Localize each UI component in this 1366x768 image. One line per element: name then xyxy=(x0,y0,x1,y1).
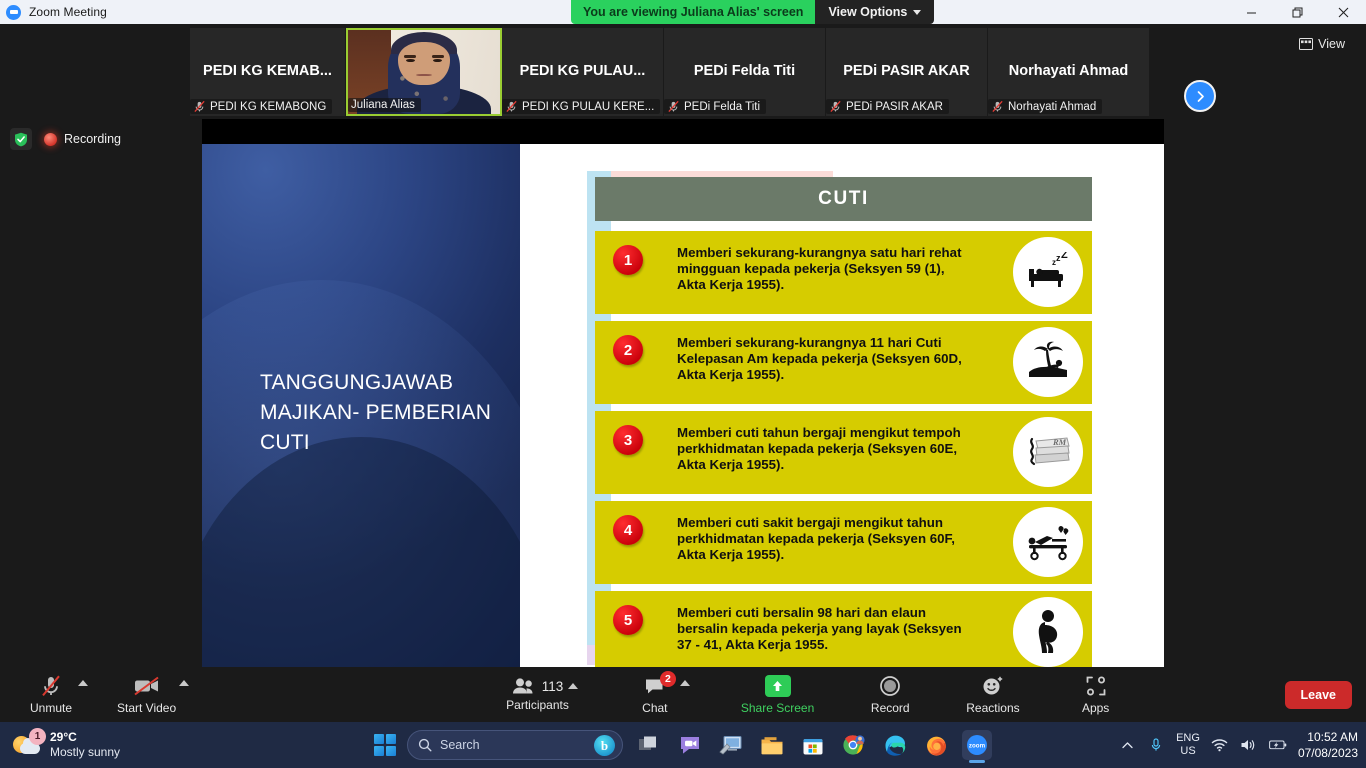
apps-bracket-icon xyxy=(1085,674,1107,698)
infographic-header: CUTI xyxy=(595,177,1092,221)
share-up-arrow-icon xyxy=(765,674,791,698)
beach-palm-icon xyxy=(1013,327,1083,397)
list-item: 4 Memberi cuti sakit bergaji mengikut ta… xyxy=(595,501,1092,584)
weather-condition: Mostly sunny xyxy=(50,745,120,760)
chat-unread-badge: 2 xyxy=(660,671,676,687)
participant-tile[interactable]: PEDI KG KEMAB... PEDI KG KEMABONG xyxy=(190,28,346,116)
participant-badge: PEDI KG KEMABONG xyxy=(190,99,332,114)
language-region: US xyxy=(1176,745,1200,758)
weather-notification-badge: 1 xyxy=(29,728,46,745)
video-options-chevron-icon[interactable] xyxy=(179,680,189,686)
language-code: ENG xyxy=(1176,732,1200,745)
participant-display-name: PEDi Felda Titi xyxy=(688,64,801,80)
chevron-right-icon xyxy=(1194,90,1207,103)
microsoft-store-icon[interactable] xyxy=(798,730,828,760)
participant-badge: Juliana Alias xyxy=(348,98,421,112)
zoom-chat-icon[interactable] xyxy=(675,730,705,760)
restore-button[interactable] xyxy=(1274,0,1320,24)
view-label: View xyxy=(1318,37,1345,51)
item-number-badge: 3 xyxy=(613,425,643,455)
search-icon xyxy=(418,738,432,752)
apps-label: Apps xyxy=(1082,701,1109,715)
list-item: 2 Memberi sekurang-kurangnya 11 hari Cut… xyxy=(595,321,1092,404)
camera-off-icon xyxy=(133,674,161,698)
mic-options-chevron-icon[interactable] xyxy=(78,680,88,686)
participant-tile[interactable]: PEDI KG PULAU... PEDI KG PULAU KERE... xyxy=(502,28,664,116)
system-tray: ENG US xyxy=(1118,729,1358,761)
weather-text: 29°C Mostly sunny xyxy=(50,730,120,760)
mute-label: Unmute xyxy=(30,701,72,715)
participant-badge: PEDi Felda Titi xyxy=(664,99,766,114)
participant-display-name: Norhayati Ahmad xyxy=(1003,64,1135,80)
participant-name: PEDI KG PULAU KERE... xyxy=(522,101,654,113)
item-text: Memberi sekurang-kurangnya 11 hari Cuti … xyxy=(677,335,967,384)
weather-temperature: 29°C xyxy=(50,730,120,745)
participant-name: PEDI KG KEMABONG xyxy=(210,101,326,113)
remote-desktop-icon[interactable] xyxy=(716,730,746,760)
chevron-up-icon[interactable] xyxy=(1118,736,1136,754)
smiley-plus-icon xyxy=(981,674,1005,698)
chat-label: Chat xyxy=(642,701,667,715)
item-number-badge: 5 xyxy=(613,605,643,635)
svg-text:RM: RM xyxy=(1052,437,1067,447)
bed-sleep-icon: z z Z xyxy=(1013,237,1083,307)
mic-muted-icon xyxy=(505,100,518,113)
participant-filmstrip: PEDI KG KEMAB... PEDI KG KEMABONG xyxy=(190,28,1170,116)
taskbar-center-group: Search b xyxy=(374,730,992,760)
participant-display-name: PEDI KG KEMAB... xyxy=(197,64,338,80)
task-view-icon[interactable] xyxy=(634,730,664,760)
zoom-content-area: PEDI KG KEMAB... PEDI KG KEMABONG xyxy=(0,24,1366,722)
recording-label: Recording xyxy=(64,132,121,146)
start-video-button[interactable]: Start Video xyxy=(112,674,181,715)
mozilla-firefox-icon[interactable] xyxy=(921,730,951,760)
mute-button[interactable]: Unmute xyxy=(22,674,80,715)
filmstrip-next-button[interactable] xyxy=(1184,80,1216,112)
zoom-meeting-window: Zoom Meeting You are viewing Juliana Ali… xyxy=(0,0,1366,768)
money-rm-icon: RM xyxy=(1013,417,1083,487)
mic-muted-icon xyxy=(667,100,680,113)
participants-count: 113 xyxy=(542,679,564,694)
share-screen-button[interactable]: Share Screen xyxy=(736,674,819,715)
item-text: Memberi sekurang-kurangnya satu hari reh… xyxy=(677,245,967,294)
pregnant-woman-icon xyxy=(1013,597,1083,667)
window-title: Zoom Meeting xyxy=(29,5,107,19)
clock-date: 07/08/2023 xyxy=(1298,745,1358,761)
meeting-control-bar: Unmute Start Video xyxy=(0,667,1366,722)
google-chrome-icon[interactable] xyxy=(839,730,869,760)
participant-tile[interactable]: PEDi Felda Titi PEDi Felda Titi xyxy=(664,28,826,116)
search-input[interactable]: Search b xyxy=(407,730,623,760)
participant-tile-active-speaker[interactable]: Juliana Alias xyxy=(346,28,502,116)
close-button[interactable] xyxy=(1320,0,1366,24)
participants-button[interactable]: 113 Participants xyxy=(501,677,574,712)
record-dot-icon xyxy=(44,133,57,146)
clock-time: 10:52 AM xyxy=(1298,729,1358,745)
share-screen-label: Share Screen xyxy=(741,701,814,715)
zoom-logo-icon xyxy=(6,5,21,20)
participants-label: Participants xyxy=(506,698,569,712)
item-text: Memberi cuti sakit bergaji mengikut tahu… xyxy=(677,515,967,564)
participants-count-group: 113 xyxy=(512,677,564,695)
shared-screen-stage[interactable]: TANGGUNGJAWAB MAJIKAN- PEMBERIAN CUTI CU… xyxy=(202,119,1164,667)
participant-display-name: PEDI KG PULAU... xyxy=(514,64,652,80)
item-number-badge: 4 xyxy=(613,515,643,545)
mic-muted-icon xyxy=(193,100,206,113)
chat-button[interactable]: 2 Chat xyxy=(626,674,684,715)
screen-share-banner: You are viewing Juliana Alias' screen Vi… xyxy=(571,0,934,24)
people-icon xyxy=(512,677,536,695)
viewing-screen-message: You are viewing Juliana Alias' screen xyxy=(571,0,815,24)
language-indicator[interactable]: ENG US xyxy=(1176,732,1200,758)
slide-infographic: CUTI 1 Memberi sekurang-kurangnya satu h… xyxy=(587,171,1097,667)
mic-muted-icon xyxy=(991,100,1004,113)
slide-title-panel: TANGGUNGJAWAB MAJIKAN- PEMBERIAN CUTI xyxy=(202,144,520,667)
layout-grid-icon xyxy=(1299,38,1313,50)
chevron-down-icon xyxy=(913,10,921,15)
search-placeholder: Search xyxy=(440,738,480,752)
minimize-button[interactable] xyxy=(1228,0,1274,24)
participant-name: PEDi Felda Titi xyxy=(684,101,760,113)
start-button[interactable] xyxy=(374,734,396,756)
zoom-app-icon[interactable]: zoom xyxy=(962,730,992,760)
window-controls xyxy=(1228,0,1366,24)
participant-tile[interactable]: PEDi PASIR AKAR PEDi PASIR AKAR xyxy=(826,28,988,116)
item-number-badge: 1 xyxy=(613,245,643,275)
record-circle-icon xyxy=(879,674,901,698)
video-label: Start Video xyxy=(117,701,176,715)
participant-name: PEDi PASIR AKAR xyxy=(846,101,943,113)
speaker-icon[interactable] xyxy=(1240,736,1258,754)
clock[interactable]: 10:52 AM 07/08/2023 xyxy=(1298,729,1358,761)
view-options-label: View Options xyxy=(828,5,907,19)
svg-text:zoom: zoom xyxy=(969,743,986,750)
svg-text:Z: Z xyxy=(1061,252,1068,261)
page-title: TANGGUNGJAWAB MAJIKAN- PEMBERIAN CUTI xyxy=(260,368,506,457)
mic-muted-icon xyxy=(40,674,62,698)
list-item: 1 Memberi sekurang-kurangnya satu hari r… xyxy=(595,231,1092,314)
windows-taskbar: 1 29°C Mostly sunny Search b xyxy=(0,722,1366,768)
participant-display-name: PEDi PASIR AKAR xyxy=(837,64,976,80)
item-text: Memberi cuti bersalin 98 hari dan elaun … xyxy=(677,605,967,654)
participant-badge: PEDi PASIR AKAR xyxy=(826,99,949,114)
file-explorer-icon[interactable] xyxy=(757,730,787,760)
item-text: Memberi cuti tahun bergaji mengikut temp… xyxy=(677,425,967,474)
apps-button[interactable]: Apps xyxy=(1067,674,1125,715)
chat-options-chevron-icon[interactable] xyxy=(680,680,690,686)
view-layout-button[interactable]: View xyxy=(1292,33,1352,55)
participant-name: Norhayati Ahmad xyxy=(1008,101,1096,113)
wifi-icon[interactable] xyxy=(1211,736,1229,754)
microsoft-edge-icon[interactable] xyxy=(880,730,910,760)
participant-name: Juliana Alias xyxy=(351,99,415,111)
participant-tile[interactable]: Norhayati Ahmad Norhayati Ahmad xyxy=(988,28,1150,116)
bing-icon[interactable]: b xyxy=(594,735,615,756)
hospital-stretcher-icon xyxy=(1013,507,1083,577)
view-options-button[interactable]: View Options xyxy=(815,0,934,24)
list-item: 5 Memberi cuti bersalin 98 hari dan elau… xyxy=(595,591,1092,667)
record-button[interactable]: Record xyxy=(861,674,919,715)
participant-badge: PEDI KG PULAU KERE... xyxy=(502,99,660,114)
microphone-icon[interactable] xyxy=(1147,736,1165,754)
list-item: 3 Memberi cuti tahun bergaji mengikut te… xyxy=(595,411,1092,494)
leave-button[interactable]: Leave xyxy=(1285,681,1352,709)
mic-muted-icon xyxy=(829,100,842,113)
shield-check-icon[interactable] xyxy=(10,128,32,150)
item-number-badge: 2 xyxy=(613,335,643,365)
participants-options-chevron-icon[interactable] xyxy=(568,683,578,689)
weather-widget[interactable]: 1 29°C Mostly sunny xyxy=(12,730,120,760)
reactions-label: Reactions xyxy=(966,701,1019,715)
participant-badge: Norhayati Ahmad xyxy=(988,99,1102,114)
reactions-button[interactable]: Reactions xyxy=(961,674,1024,715)
infographic-header-title: CUTI xyxy=(818,188,869,210)
recording-indicator: Recording xyxy=(10,128,121,150)
presentation-slide: TANGGUNGJAWAB MAJIKAN- PEMBERIAN CUTI CU… xyxy=(202,144,1164,667)
battery-charging-icon[interactable] xyxy=(1269,736,1287,754)
record-label: Record xyxy=(871,701,910,715)
